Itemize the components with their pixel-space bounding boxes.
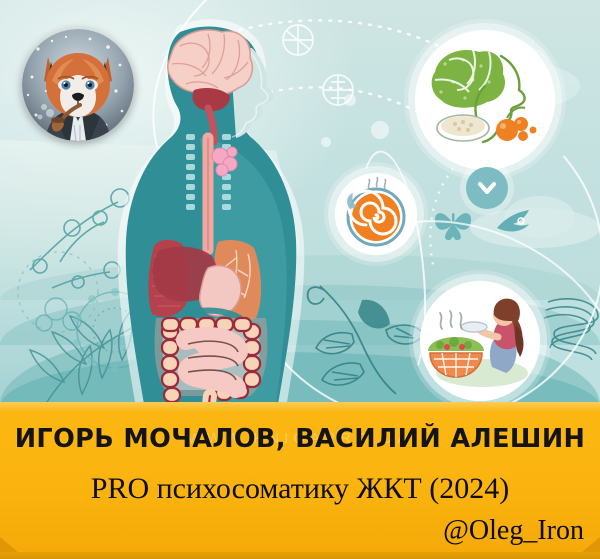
authors-line: ИГОРЬ МОЧАЛОВ, ВАСИЛИЙ АЛЕШИН [0, 424, 600, 454]
chevron-down-check-icon [475, 176, 499, 200]
check-badge [466, 167, 508, 209]
channel-handle: @Oleg_Iron [443, 515, 584, 547]
fox-avatar [22, 29, 134, 141]
title-banner: WWW.KNIGAPRO.UA ИГОРЬ МОЧАЛОВ, ВАСИЛИЙ А… [0, 402, 600, 559]
node-brain-gut [415, 30, 555, 170]
book-cover-poster: WWW.KNIGAPRO.UA ИГОРЬ МОЧАЛОВ, ВАСИЛИЙ А… [0, 0, 600, 559]
node-spiral [335, 173, 417, 255]
banner-bevel-bottom [0, 552, 600, 559]
node-meal [420, 281, 540, 401]
book-title: PRO психосоматику ЖКТ (2024) [0, 472, 600, 506]
human-digestive-anatomy [100, 18, 340, 408]
